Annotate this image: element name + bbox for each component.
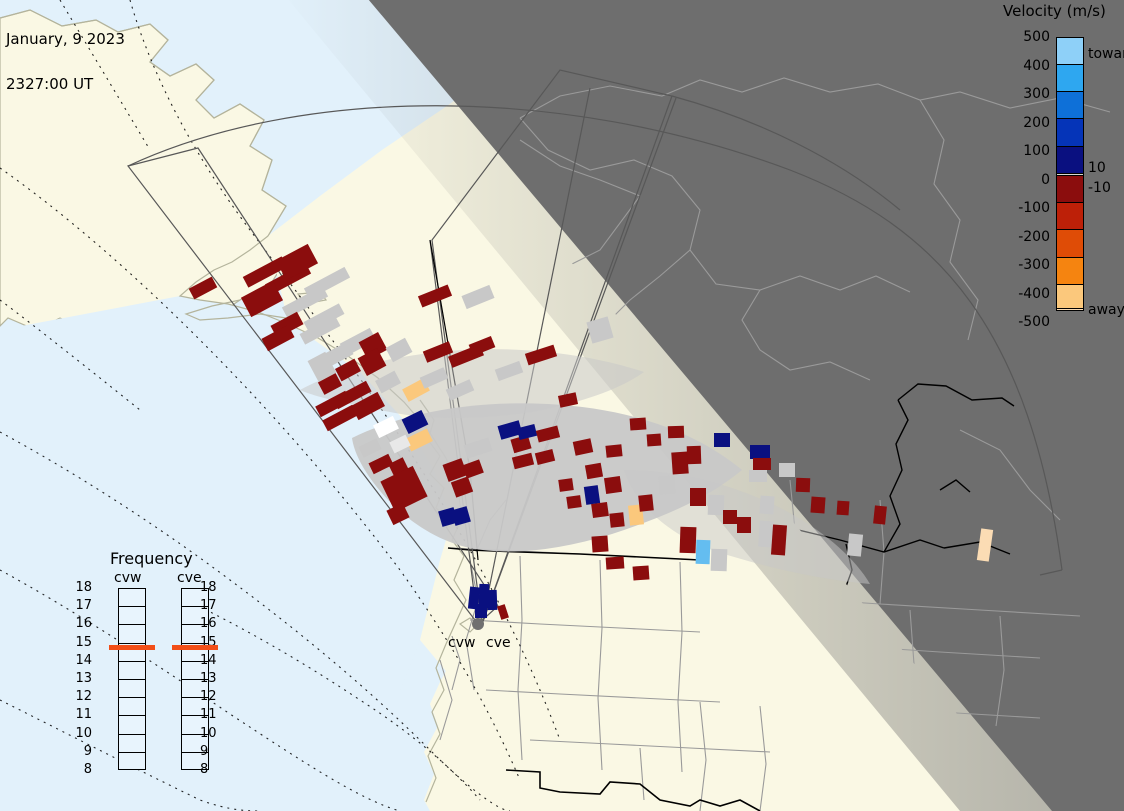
frequency-cell <box>119 698 145 716</box>
colorbar-tick: -400 <box>1008 286 1050 302</box>
colorbar-tick: 300 <box>1008 86 1050 102</box>
colorbar-segment <box>1056 257 1084 285</box>
frequency-tick: 13 <box>200 671 222 686</box>
colorbar-tick: -500 <box>1008 314 1050 330</box>
velocity-cell <box>647 434 662 447</box>
velocity-cell <box>633 565 650 580</box>
velocity-cell <box>630 417 647 430</box>
radar-site-marker <box>472 618 484 630</box>
colorbar-tick: 400 <box>1008 58 1050 74</box>
velocity-cell <box>737 517 751 533</box>
frequency-tick: 12 <box>70 689 92 704</box>
velocity-cell <box>680 527 697 554</box>
colorbar-tick: -300 <box>1008 257 1050 273</box>
velocity-cell <box>847 533 863 556</box>
frequency-tick: 14 <box>70 653 92 668</box>
fan-plot-canvas: January, 9 2023 2327:00 UT Velocity (m/s… <box>0 0 1124 811</box>
frequency-tick: 14 <box>200 653 222 668</box>
velocity-cell <box>475 604 487 618</box>
velocity-cell <box>708 495 725 516</box>
colorbar-segment <box>1056 118 1084 146</box>
time-text: 2327:00 UT <box>6 77 125 92</box>
frequency-tick: 11 <box>70 707 92 722</box>
colorbar-tick: -100 <box>1008 200 1050 216</box>
velocity-cell <box>723 510 737 524</box>
velocity-cell <box>487 590 498 610</box>
frequency-cell <box>119 735 145 753</box>
frequency-radar-label-cvw: cvw <box>114 570 141 586</box>
frequency-cell <box>119 716 145 734</box>
velocity-cell <box>668 426 684 439</box>
frequency-tick: 17 <box>70 598 92 613</box>
velocity-cell <box>749 470 767 482</box>
colorbar-segment <box>1056 64 1084 92</box>
frequency-tick: 10 <box>70 726 92 741</box>
timestamp-block: January, 9 2023 2327:00 UT <box>6 2 125 122</box>
colorbar-segment <box>1056 202 1084 230</box>
colorbar-segment <box>1056 284 1084 309</box>
velocity-cell <box>558 478 574 492</box>
colorbar-tick: 100 <box>1008 143 1050 159</box>
velocity-cell <box>638 494 654 511</box>
velocity-cell <box>591 535 608 552</box>
frequency-tick: 13 <box>70 671 92 686</box>
colorbar-inner-low-label: -10 <box>1088 180 1111 196</box>
velocity-cell <box>605 444 622 458</box>
velocity-cell <box>750 445 770 459</box>
velocity-cell <box>696 540 711 564</box>
frequency-scale-cvw <box>118 588 146 770</box>
velocity-cell <box>671 451 688 474</box>
velocity-cell <box>873 505 887 524</box>
velocity-cell <box>796 478 810 492</box>
frequency-tick: 15 <box>70 635 92 650</box>
colorbar-segment <box>1056 91 1084 119</box>
velocity-cell <box>566 495 582 509</box>
velocity-cell <box>837 501 850 516</box>
velocity-cell <box>810 497 825 514</box>
frequency-tick: 9 <box>200 744 222 759</box>
colorbar-segment <box>1056 37 1084 65</box>
colorbar-tick: 200 <box>1008 115 1050 131</box>
frequency-cell <box>119 680 145 698</box>
frequency-marker-cvw <box>109 645 155 650</box>
velocity-cell <box>591 502 609 518</box>
colorbar-title: Velocity (m/s) <box>1003 2 1106 20</box>
frequency-tick: 16 <box>200 616 222 631</box>
colorbar-segment <box>1056 146 1084 174</box>
frequency-tick: 16 <box>70 616 92 631</box>
frequency-tick: 18 <box>70 580 92 595</box>
colorbar-away-label: away <box>1088 302 1124 318</box>
colorbar-segment <box>1056 308 1084 311</box>
frequency-radar-label-cve: cve <box>177 570 202 586</box>
frequency-tick: 18 <box>200 580 222 595</box>
velocity-cell <box>604 476 622 494</box>
colorbar-inner-high-label: 10 <box>1088 160 1106 176</box>
frequency-marker-cve <box>172 645 218 650</box>
frequency-legend-title: Frequency <box>110 549 193 568</box>
date-text: January, 9 2023 <box>6 32 125 47</box>
site-label-cve: cve <box>486 635 511 651</box>
map-canvas <box>0 0 1124 811</box>
velocity-cell <box>759 496 774 515</box>
velocity-cell <box>753 458 771 470</box>
velocity-cell <box>585 463 603 480</box>
frequency-cell <box>119 753 145 771</box>
velocity-cell <box>714 433 730 447</box>
colorbar-tick: 0 <box>1008 172 1050 188</box>
colorbar-segment <box>1056 229 1084 257</box>
frequency-tick: 8 <box>70 762 92 777</box>
frequency-tick: 17 <box>200 598 222 613</box>
colorbar-tick: 500 <box>1008 29 1050 45</box>
frequency-tick: 12 <box>200 689 222 704</box>
velocity-cell <box>606 556 625 569</box>
velocity-cell <box>609 512 624 527</box>
colorbar-segment <box>1056 175 1084 203</box>
velocity-cell <box>658 475 675 494</box>
colorbar-toward-label: toward <box>1088 46 1124 62</box>
velocity-cell <box>711 549 728 572</box>
frequency-cell <box>119 662 145 680</box>
frequency-cell <box>119 589 145 607</box>
velocity-cell <box>771 525 787 556</box>
frequency-tick: 8 <box>200 762 222 777</box>
colorbar-tick: -200 <box>1008 229 1050 245</box>
colorbar <box>1056 38 1084 323</box>
velocity-cell <box>758 521 774 548</box>
velocity-cell <box>779 463 795 477</box>
velocity-cell <box>690 488 706 506</box>
velocity-cell <box>687 446 702 464</box>
frequency-tick: 9 <box>70 744 92 759</box>
frequency-cell <box>119 607 145 625</box>
site-label-cvw: cvw <box>448 635 475 651</box>
frequency-tick: 10 <box>200 726 222 741</box>
velocity-cell <box>584 485 600 505</box>
frequency-cell <box>119 625 145 643</box>
frequency-tick: 11 <box>200 707 222 722</box>
